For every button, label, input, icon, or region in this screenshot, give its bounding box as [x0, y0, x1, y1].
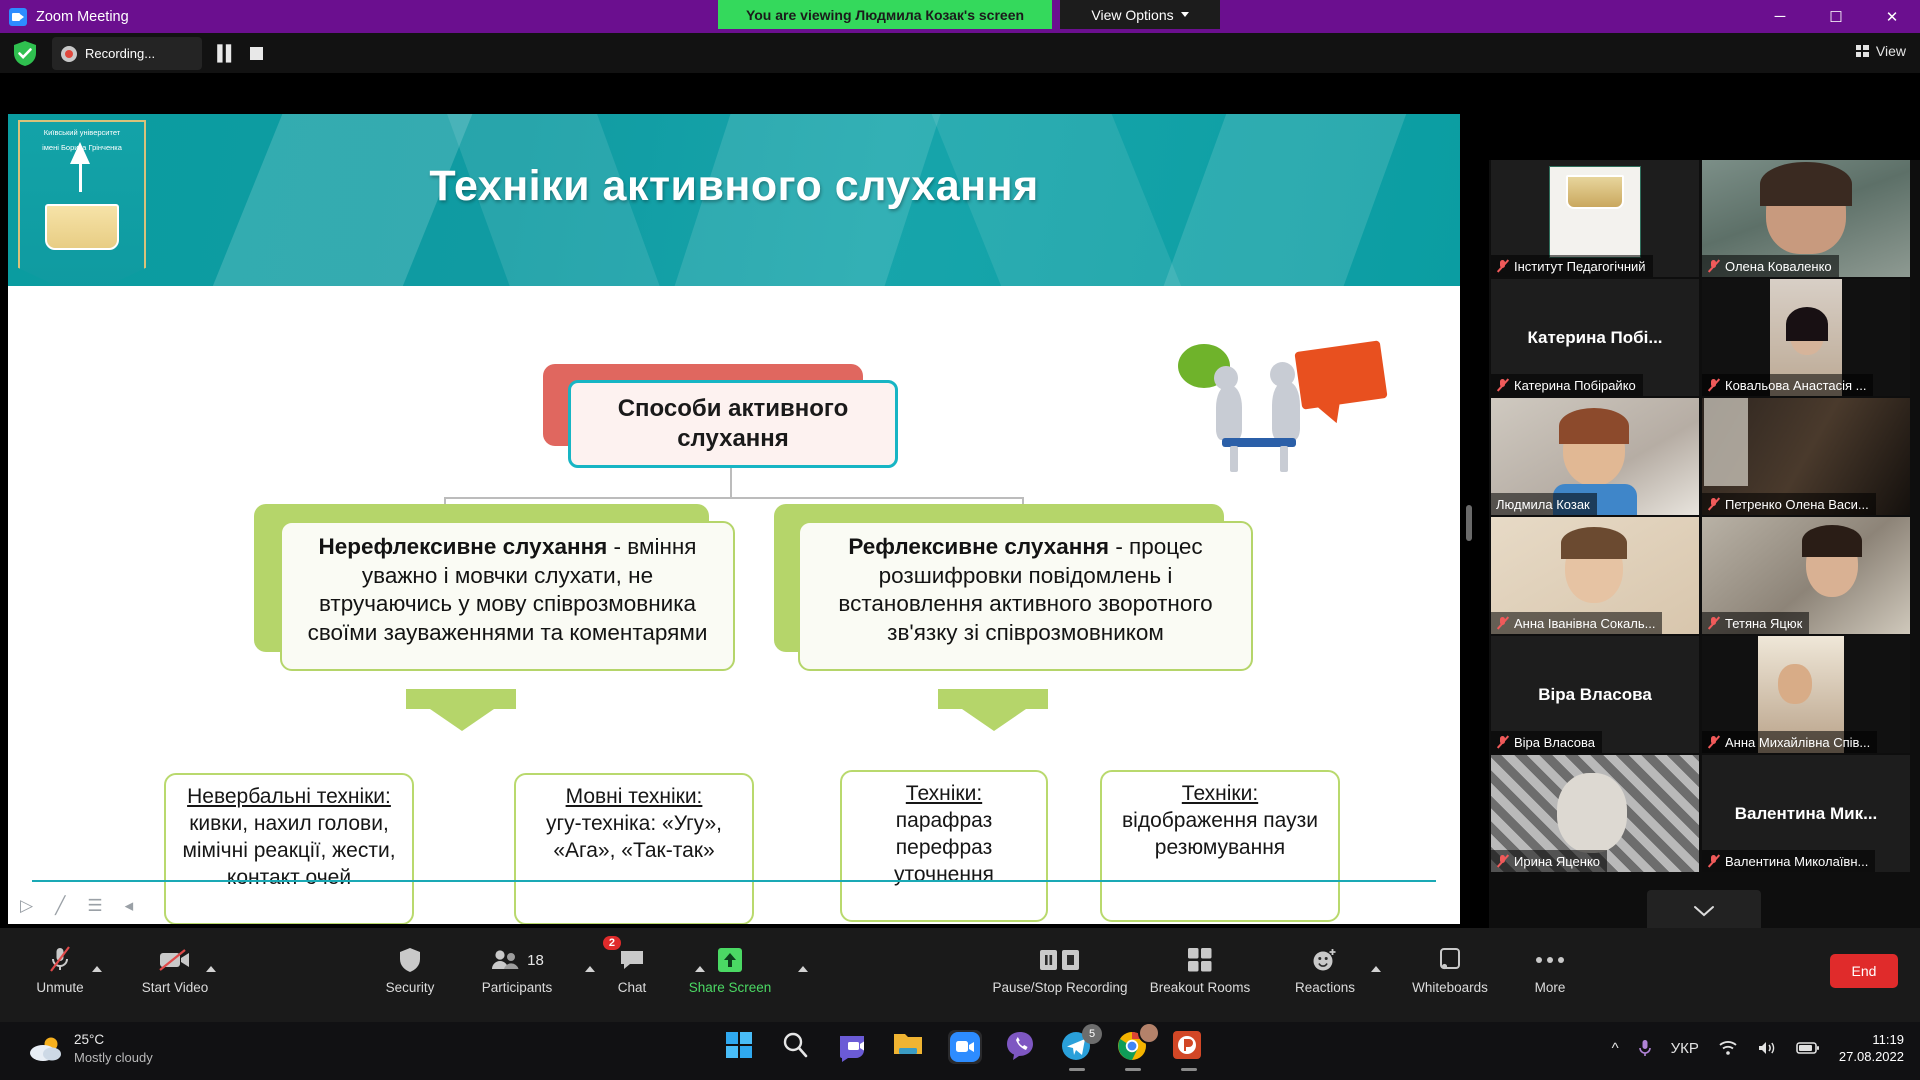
security-button[interactable]: Security	[350, 942, 470, 995]
stop-icon[interactable]	[250, 47, 263, 60]
powerpoint-icon	[1172, 1030, 1202, 1060]
participant-tile[interactable]: Інститут Педагогічний	[1491, 160, 1699, 277]
annotation-toolbar[interactable]: ▷ ╱ ☰ ◂	[20, 896, 133, 916]
file-explorer-app[interactable]	[892, 1030, 926, 1064]
participant-name: Віра Власова	[1514, 735, 1595, 750]
mic-off-icon	[1496, 259, 1509, 273]
zoom-app[interactable]	[948, 1030, 982, 1064]
participant-name: Анна Михайлівна Спів...	[1725, 735, 1870, 750]
arrow-left-head	[430, 709, 494, 731]
wifi-icon[interactable]	[1718, 1040, 1738, 1056]
leaf-heading: Техніки:	[906, 782, 982, 805]
people-illustration	[1168, 338, 1408, 498]
leaf-heading: Невербальні техніки:	[187, 785, 391, 808]
start-video-label: Start Video	[142, 980, 209, 995]
participant-namebar: Петренко Олена Васи...	[1702, 493, 1876, 515]
record-control-icon	[1037, 942, 1083, 978]
start-video-button[interactable]: Start Video	[115, 942, 235, 995]
weather-temperature: 25°C	[74, 1031, 153, 1049]
mic-off-icon	[1496, 735, 1509, 749]
end-meeting-button[interactable]: End	[1830, 954, 1898, 988]
pause-stop-recording-label: Pause/Stop Recording	[992, 980, 1127, 995]
clock-time: 11:19	[1839, 1031, 1904, 1048]
language-indicator[interactable]: УКР	[1671, 1040, 1699, 1057]
mic-off-icon	[1707, 854, 1720, 868]
orange-speech-bubble-icon	[1294, 340, 1387, 409]
participant-name: Олена Коваленко	[1725, 259, 1832, 274]
participant-tile[interactable]: Петренко Олена Васи...	[1702, 398, 1910, 515]
participant-namebar: Олена Коваленко	[1702, 255, 1839, 277]
windows-icon	[724, 1030, 754, 1060]
chevron-up-icon[interactable]: ^	[1612, 1040, 1619, 1057]
telegram-unread-badge: 5	[1082, 1024, 1102, 1044]
reactions-icon	[1311, 942, 1339, 978]
participants-count: 18	[527, 952, 544, 969]
hair-shape	[1786, 307, 1828, 341]
chat-unread-badge: 2	[603, 936, 621, 950]
unmute-label: Unmute	[36, 980, 83, 995]
search-button[interactable]	[780, 1030, 814, 1064]
share-screen-label: Share Screen	[689, 980, 772, 995]
grid-icon	[1856, 45, 1869, 57]
reflective-listening-box: Рефлексивне слухання - процес розшифровк…	[798, 521, 1253, 671]
weather-description: Mostly cloudy	[74, 1049, 153, 1067]
face-shape	[1778, 664, 1812, 704]
participant-name: Ковальова Анастасія ...	[1725, 378, 1866, 393]
participant-name: Анна Іванівна Сокаль...	[1514, 616, 1655, 631]
arrow-right-head	[962, 709, 1026, 731]
leaf-body: кивки, нахил голови, мімічні реакції, же…	[182, 812, 395, 889]
institute-logo-thumbnail	[1549, 166, 1641, 258]
search-icon	[780, 1030, 810, 1060]
format-icon[interactable]: ◂	[125, 896, 134, 916]
participants-button[interactable]: 18 Participants	[457, 942, 577, 995]
teams-app[interactable]	[836, 1030, 870, 1064]
participant-namebar: Віра Власова	[1491, 731, 1602, 753]
leaf-heading: Мовні техніки:	[566, 785, 703, 808]
clock-date: 27.08.2022	[1839, 1048, 1904, 1065]
participant-namebar: Людмила Козак	[1491, 493, 1597, 515]
zoom-icon	[950, 1032, 980, 1062]
partly-cloudy-icon	[28, 1035, 64, 1063]
participant-namebar: Тетяна Яцюк	[1702, 612, 1809, 634]
participant-namebar: Валентина Миколаївн...	[1702, 850, 1875, 872]
minimize-button[interactable]: ─	[1752, 0, 1808, 33]
recording-label: Recording...	[85, 46, 155, 61]
pointer-icon[interactable]: ▷	[20, 896, 33, 916]
pause-icon[interactable]: ▐▐	[212, 45, 229, 62]
leaf-box-verbal: Мовні техніки: угу-техніка: «Угу», «Ага»…	[514, 773, 754, 924]
participant-namebar: Анна Іванівна Сокаль...	[1491, 612, 1662, 634]
participant-name: Катерина Побірайко	[1514, 378, 1636, 393]
participant-namebar: Катерина Побірайко	[1491, 374, 1643, 396]
chat-icon: 2	[619, 942, 645, 978]
slide-body: Способи активного слухання Нерефлексивне…	[8, 286, 1460, 924]
participant-namebar: Анна Михайлівна Спів...	[1702, 731, 1877, 753]
viber-icon	[1004, 1030, 1036, 1062]
mic-off-icon	[1496, 378, 1509, 392]
reactions-label: Reactions	[1295, 980, 1355, 995]
participant-tile[interactable]: Тетяна Яцюк	[1702, 517, 1910, 634]
arrow-right-shaft	[938, 689, 1048, 709]
share-options-caret[interactable]	[798, 966, 808, 972]
share-screen-icon	[716, 942, 744, 978]
viber-app[interactable]	[1004, 1030, 1038, 1064]
zoom-icon	[9, 8, 27, 26]
panel-resize-handle[interactable]	[1466, 505, 1472, 541]
mic-off-icon	[1496, 616, 1509, 630]
participant-tile[interactable]: Віра Власова Віра Власова	[1491, 636, 1699, 753]
leaf-box-nonverbal: Невербальні техніки: кивки, нахил голови…	[164, 773, 414, 924]
screen-share-banner: You are viewing Людмила Козак's screen	[718, 0, 1052, 29]
hair-shape	[1760, 162, 1852, 206]
participant-tile[interactable]: Катерина Побі... Катерина Побірайко	[1491, 279, 1699, 396]
view-button-label: View	[1876, 43, 1906, 59]
powerpoint-app[interactable]	[1172, 1030, 1206, 1064]
face-shape	[1557, 773, 1627, 853]
taskbar-apps: 5	[724, 1030, 1206, 1064]
security-label: Security	[386, 980, 435, 995]
more-button[interactable]: More	[1470, 942, 1630, 995]
view-options-button[interactable]: View Options	[1060, 0, 1220, 29]
participant-namebar: Ковальова Анастасія ...	[1702, 374, 1873, 396]
participant-tile[interactable]: Анна Михайлівна Спів...	[1702, 636, 1910, 753]
chrome-profile-avatar[interactable]	[1138, 1022, 1160, 1044]
recording-indicator: Recording...	[52, 37, 202, 70]
window-controls: ─ ☐ ✕	[1752, 0, 1920, 33]
volume-icon[interactable]	[1757, 1040, 1777, 1056]
whiteboard-icon	[1437, 942, 1463, 978]
leaf-heading: Техніки:	[1182, 782, 1258, 805]
mic-off-icon	[1707, 378, 1720, 392]
nonreflective-heading: Нерефлексивне слухання	[319, 534, 608, 559]
eraser-icon[interactable]: ☰	[87, 896, 102, 916]
participants-icon: 18	[490, 942, 544, 978]
connector-horizontal	[444, 497, 1024, 499]
maximize-button[interactable]: ☐	[1808, 0, 1864, 33]
participant-strip[interactable]: Інститут Педагогічний Олена Коваленко Ка…	[1489, 160, 1920, 950]
participant-tile[interactable]: Валентина Мик... Валентина Миколаївн...	[1702, 755, 1910, 872]
weather-widget[interactable]: 25°C Mostly cloudy	[28, 1031, 153, 1067]
battery-icon[interactable]	[1796, 1041, 1820, 1055]
mic-off-icon	[1707, 259, 1720, 273]
hair-shape	[1561, 527, 1627, 559]
participant-namebar: Ирина Яценко	[1491, 850, 1607, 872]
slide-header-band: Техніки активного слухання Київський уні…	[8, 114, 1460, 286]
participant-name: Інститут Педагогічний	[1514, 259, 1646, 274]
leaf-body: відображення паузи резюмування	[1122, 809, 1318, 859]
close-button[interactable]: ✕	[1864, 0, 1920, 33]
participant-name: Ирина Яценко	[1514, 854, 1600, 869]
pen-icon[interactable]: ╱	[55, 896, 65, 916]
windows-taskbar: 25°C Mostly cloudy	[0, 1022, 1920, 1080]
root-box: Способи активного слухання	[568, 380, 898, 468]
participant-name: Петренко Олена Васи...	[1725, 497, 1869, 512]
hair-shape	[1802, 525, 1862, 557]
participant-tile[interactable]: Анна Іванівна Сокаль...	[1491, 517, 1699, 634]
mic-off-icon	[1707, 497, 1720, 511]
more-icon	[1535, 942, 1565, 978]
participant-namebar: Інститут Педагогічний	[1491, 255, 1653, 277]
strip-scroll-down-button[interactable]	[1647, 890, 1761, 932]
participant-name: Валентина Миколаївн...	[1725, 854, 1868, 869]
participant-tile[interactable]: Ковальова Анастасія ...	[1702, 279, 1910, 396]
slide-footer-rule	[32, 880, 1436, 882]
connector-vertical	[730, 468, 732, 498]
unmute-button[interactable]: Unmute	[0, 942, 120, 995]
participant-tile[interactable]: Олена Коваленко	[1702, 160, 1910, 277]
reflective-heading: Рефлексивне слухання	[848, 534, 1109, 559]
window-title: Zoom Meeting	[36, 9, 129, 25]
participant-tile-active[interactable]: Людмила Козак	[1491, 398, 1699, 515]
arrow-left-shaft	[406, 689, 516, 709]
video-off-icon	[158, 942, 192, 978]
mic-off-icon	[1707, 616, 1720, 630]
slide-title: Техніки активного слухання	[8, 162, 1460, 211]
folder-icon	[892, 1030, 924, 1058]
leaf-box-reflection: Техніки: відображення паузи резюмування	[1100, 770, 1340, 922]
leaf-body: угу-техніка: «Угу», «Ага», «Так-так»	[546, 812, 722, 862]
participants-label: Participants	[482, 980, 553, 995]
start-button[interactable]	[724, 1030, 758, 1064]
record-dot-icon	[61, 46, 77, 62]
teams-icon	[836, 1030, 868, 1062]
video-options-caret[interactable]	[206, 966, 216, 972]
chevron-down-icon	[1181, 12, 1189, 17]
breakout-rooms-icon	[1187, 942, 1213, 978]
logo-torch-icon	[79, 152, 82, 192]
participant-name: Людмила Козак	[1496, 497, 1590, 512]
mic-off-icon	[1707, 735, 1720, 749]
university-logo: Київський університет імені Бориса Грінч…	[18, 120, 146, 286]
chat-label: Chat	[618, 980, 647, 995]
mic-off-icon	[1496, 854, 1509, 868]
meeting-toolbar: Unmute Start Video Security	[0, 928, 1920, 1022]
shield-icon	[399, 942, 421, 978]
share-screen-button[interactable]: Share Screen	[670, 942, 790, 995]
logo-line-1: Київський університет	[20, 128, 144, 137]
nonreflective-listening-box: Нерефлексивне слухання - вміння уважно і…	[280, 521, 735, 671]
breakout-rooms-label: Breakout Rooms	[1150, 980, 1251, 995]
shield-check-icon[interactable]	[12, 40, 38, 67]
microphone-icon[interactable]	[1638, 1038, 1652, 1058]
shared-screen-area[interactable]: Техніки активного слухання Київський уні…	[8, 114, 1460, 924]
logo-book-icon	[45, 204, 119, 250]
mic-options-caret[interactable]	[92, 966, 102, 972]
window-titlebar: Zoom Meeting You are viewing Людмила Коз…	[0, 0, 1920, 33]
chrome-app[interactable]	[1116, 1030, 1150, 1064]
system-tray: ^ УКР 11:19 27.08.2022	[1612, 1031, 1904, 1065]
mic-off-icon	[48, 942, 72, 978]
participant-name: Тетяна Яцюк	[1725, 616, 1802, 631]
clock[interactable]: 11:19 27.08.2022	[1839, 1031, 1904, 1065]
leaf-box-paraphrase: Техніки: парафраз перефраз уточнення	[840, 770, 1048, 922]
view-button[interactable]: View	[1856, 43, 1906, 59]
more-label: More	[1535, 980, 1566, 995]
participant-tile[interactable]: Ирина Яценко	[1491, 755, 1699, 872]
leaf-body: парафраз перефраз уточнення	[894, 809, 994, 886]
window-light	[1704, 398, 1748, 486]
hair-shape	[1559, 408, 1629, 444]
view-options-label: View Options	[1091, 7, 1173, 23]
chevron-down-icon	[1693, 905, 1715, 918]
recording-bar: Recording... ▐▐ View	[0, 33, 1920, 73]
telegram-app[interactable]: 5	[1060, 1030, 1094, 1064]
